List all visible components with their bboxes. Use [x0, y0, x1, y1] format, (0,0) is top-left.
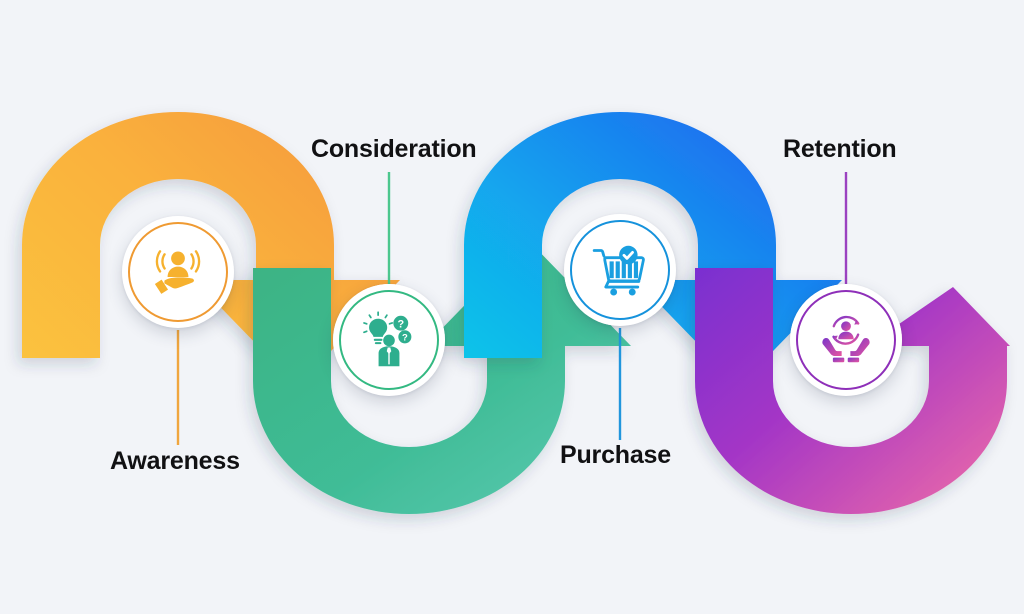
stage-node-awareness[interactable]	[122, 216, 234, 328]
person-broadcast-on-hand-icon	[149, 243, 207, 301]
shopping-cart-check-icon	[591, 241, 649, 299]
svg-text:?: ?	[397, 319, 404, 331]
stage-node-retention[interactable]	[790, 284, 902, 396]
stage-node-purchase[interactable]	[564, 214, 676, 326]
stage-label-awareness: Awareness	[110, 447, 240, 476]
stage-label-purchase: Purchase	[560, 441, 671, 470]
infographic-canvas: Awareness	[0, 0, 1024, 614]
stage-label-consideration: Consideration	[311, 135, 476, 164]
svg-text:?: ?	[402, 333, 408, 344]
stage-node-consideration[interactable]: ? ?	[333, 284, 445, 396]
lightbulb-person-questions-icon: ? ?	[360, 311, 418, 369]
stage-label-retention: Retention	[783, 135, 896, 164]
hands-holding-person-loop-icon	[817, 311, 875, 369]
